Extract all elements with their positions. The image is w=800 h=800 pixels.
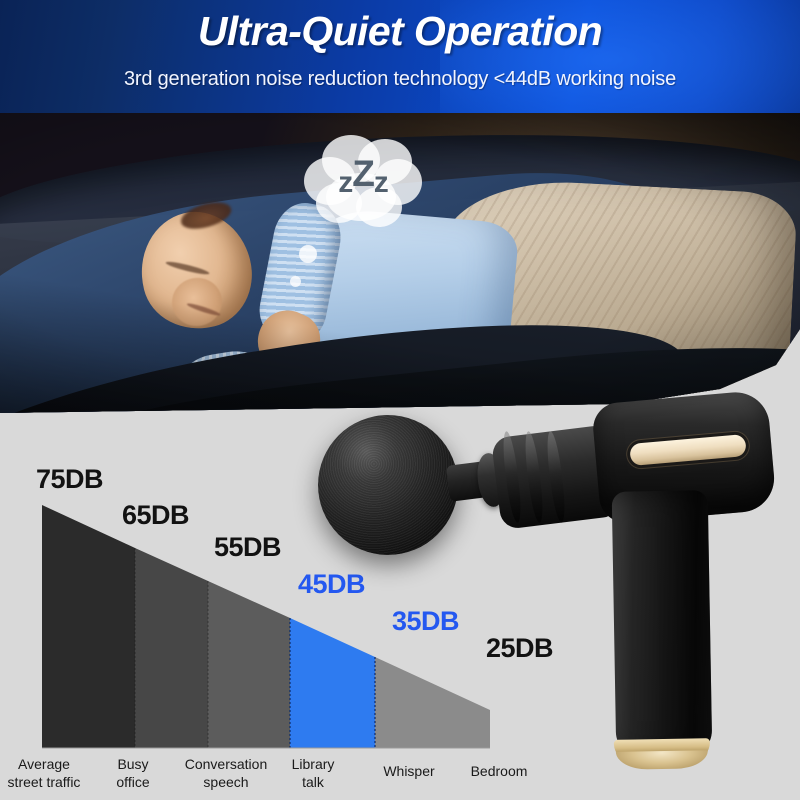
zzz-z-large: Z	[352, 153, 374, 194]
value-label-65db: 65DB	[122, 500, 189, 531]
zzz-z-small-2: z	[374, 166, 388, 199]
value-label-75db: 75DB	[36, 464, 103, 495]
bar-busy-office	[135, 548, 208, 748]
bar-conversation-speech	[208, 581, 290, 748]
ball-head-attachment	[318, 415, 458, 555]
bubble-dot-small	[290, 276, 301, 287]
massage-gun-product	[300, 395, 760, 800]
cat-line-2: office	[116, 774, 149, 792]
cat-line-2: street traffic	[8, 774, 81, 792]
cat-line-1: Busy	[116, 756, 149, 774]
zzz-z-small-1: z	[338, 166, 352, 199]
bubble-dot-large	[299, 245, 317, 263]
sleep-thought-bubble: zZz	[300, 135, 426, 235]
handle-end-cap	[616, 750, 708, 770]
zzz-text: zZz	[300, 159, 426, 201]
value-label-55db: 55DB	[214, 532, 281, 563]
category-label-busy-office: Busy office	[116, 756, 149, 791]
gun-handle	[612, 490, 713, 758]
header-banner: Ultra-Quiet Operation 3rd generation noi…	[0, 0, 800, 113]
cat-line-1: Average	[8, 756, 81, 774]
bar-average-street-traffic	[42, 505, 135, 748]
cat-line-2: speech	[185, 774, 268, 792]
page-subtitle: 3rd generation noise reduction technolog…	[0, 68, 800, 91]
category-label-average-street-traffic: Average street traffic	[8, 756, 81, 791]
cat-line-1: Conversation	[185, 756, 268, 774]
page-title: Ultra-Quiet Operation	[0, 10, 800, 53]
category-label-conversation-speech: Conversation speech	[185, 756, 268, 791]
product-infographic: Ultra-Quiet Operation 3rd generation noi…	[0, 0, 800, 800]
